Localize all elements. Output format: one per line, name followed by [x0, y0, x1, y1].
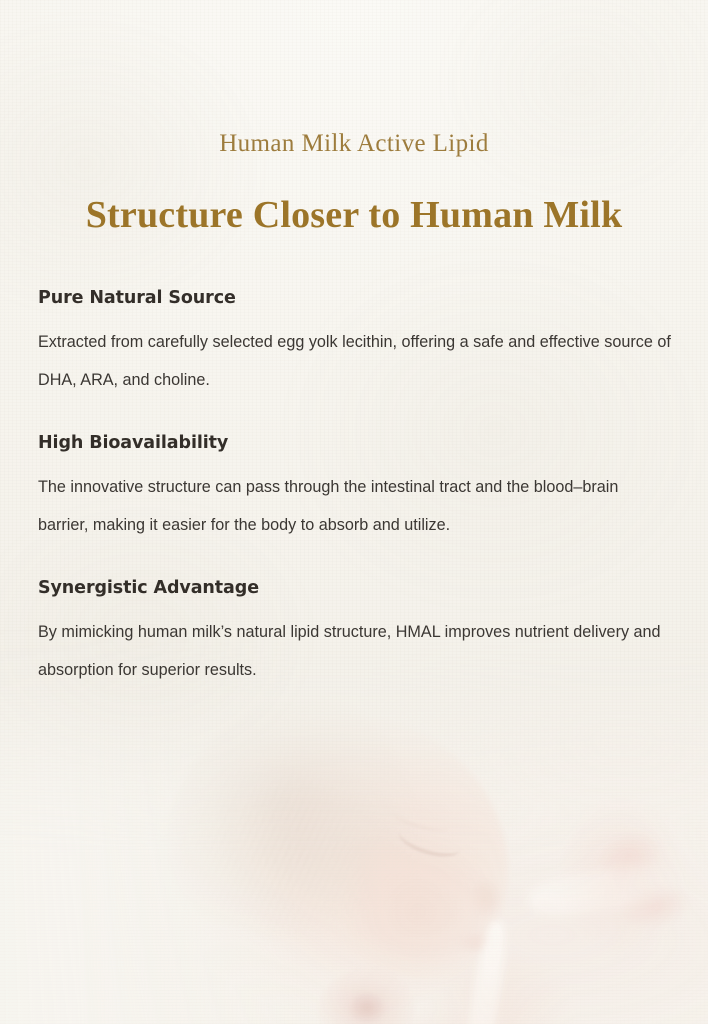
page-title: Structure Closer to Human Milk — [0, 193, 708, 237]
feature-section: Synergistic Advantage By mimicking human… — [38, 578, 672, 689]
feature-section-list: Pure Natural Source Extracted from caref… — [38, 288, 672, 689]
promo-page: Human Milk Active Lipid Structure Closer… — [0, 0, 708, 1024]
feature-body-high-bioavailability: The innovative structure can pass throug… — [38, 468, 672, 544]
feature-title-synergistic-advantage: Synergistic Advantage — [38, 578, 672, 599]
feature-title-high-bioavailability: High Bioavailability — [38, 433, 672, 454]
feature-title-pure-natural-source: Pure Natural Source — [38, 288, 672, 309]
feature-body-synergistic-advantage: By mimicking human milk’s natural lipid … — [38, 613, 672, 689]
content-layer: Human Milk Active Lipid Structure Closer… — [0, 0, 708, 1024]
feature-section: Pure Natural Source Extracted from caref… — [38, 288, 672, 399]
feature-section: High Bioavailability The innovative stru… — [38, 433, 672, 544]
feature-body-pure-natural-source: Extracted from carefully selected egg yo… — [38, 323, 672, 399]
eyebrow-heading: Human Milk Active Lipid — [0, 130, 708, 158]
